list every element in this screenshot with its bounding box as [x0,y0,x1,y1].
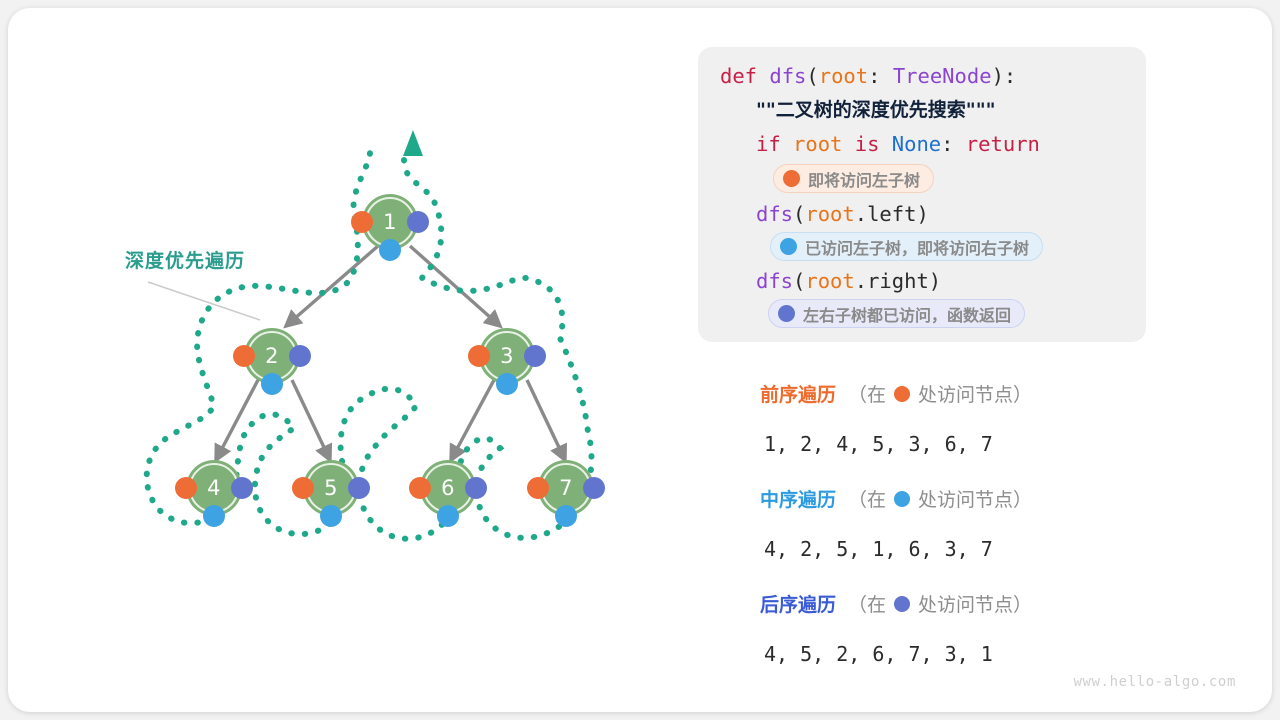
dfs-label: 深度优先遍历 [125,246,245,273]
legend-sequence-postorder: 4, 5, 2, 6, 7, 3, 1 [764,642,993,666]
blue-dot [437,505,459,527]
node-1[interactable]: 1 [362,194,418,250]
badge-pre: 即将访问左子树 [773,164,934,193]
code-token: None [892,132,941,156]
code-token: is [855,132,892,156]
blue-dot [894,491,910,507]
code-token: dfs [769,64,806,88]
edge-2-5 [292,380,330,460]
badge-post: 左右子树都已访问，函数返回 [768,299,1025,328]
legend-note: （在处访问节点） [848,485,1032,512]
legend-head-preorder: 前序遍历（在处访问节点） [760,380,1032,407]
legend-note-open: （在 [848,485,886,512]
page-background: 深度优先遍历 1234567 def dfs(root: TreeNode):"… [0,0,1280,720]
orange-dot [468,345,490,367]
orange-dot [175,477,197,499]
indigo-dot [894,596,910,612]
legend-sequence-preorder: 1, 2, 4, 5, 3, 6, 7 [764,432,993,456]
legend-note-close: 处访问节点） [918,380,1032,407]
code-token: root [819,64,868,88]
orange-dot [527,477,549,499]
code-token: def [720,64,769,88]
blue-dot [261,373,283,395]
code-token: ( [793,202,805,226]
code-token: return [966,132,1040,156]
tree-edges-and-path [8,8,698,712]
edge-1-2 [286,246,378,326]
code-token: root [793,132,855,156]
code-token: ""二叉树的深度优先搜索""" [756,99,996,121]
traversal-start-arrow-icon [403,130,423,156]
legend-sequence-inorder: 4, 2, 5, 1, 6, 3, 7 [764,537,993,561]
node-7[interactable]: 7 [538,460,594,516]
legend-note-close: 处访问节点） [918,485,1032,512]
code-token: : [868,64,893,88]
code-line-ifnone: if root is None: return [756,134,1040,155]
indigo-dot [583,477,605,499]
indigo-dot [407,211,429,233]
code-line-def: def dfs(root: TreeNode): [720,66,1016,87]
badge-in: 已访问左子树，即将访问右子树 [770,232,1043,261]
node-3[interactable]: 3 [479,328,535,384]
code-token: root [805,269,854,293]
legend-title: 中序遍历 [760,485,836,512]
node-2[interactable]: 2 [244,328,300,384]
code-token: ): [992,64,1017,88]
code-token: TreeNode [893,64,992,88]
code-token: : [941,132,966,156]
indigo-dot [289,345,311,367]
badge-label: 左右子树都已访问，函数返回 [803,302,1011,326]
blue-dot [203,505,225,527]
legend-head-postorder: 后序遍历（在处访问节点） [760,590,1032,617]
blue-dot [496,373,518,395]
figure-card: 深度优先遍历 1234567 def dfs(root: TreeNode):"… [8,8,1272,712]
blue-dot [555,505,577,527]
orange-dot [292,477,314,499]
edge-3-7 [527,380,565,460]
code-token: dfs [756,269,793,293]
legend-head-inorder: 中序遍历（在处访问节点） [760,485,1032,512]
legend-note-open: （在 [848,380,886,407]
node-6[interactable]: 6 [420,460,476,516]
blue-dot [320,505,342,527]
legend-note-open: （在 [848,590,886,617]
tree-diagram: 深度优先遍历 1234567 [8,8,698,712]
code-token: .left) [855,202,929,226]
watermark: www.hello-algo.com [1073,674,1236,690]
indigo-dot [524,345,546,367]
orange-dot [409,477,431,499]
edge-3-6 [451,380,494,460]
legend-title: 前序遍历 [760,380,836,407]
node-5[interactable]: 5 [303,460,359,516]
code-line-doc: ""二叉树的深度优先搜索""" [756,99,996,120]
code-token: ( [806,64,818,88]
badge-label: 已访问左子树，即将访问右子树 [805,235,1029,259]
legend-note: （在处访问节点） [848,590,1032,617]
legend-note-close: 处访问节点） [918,590,1032,617]
code-line-dfsright: dfs(root.right) [756,271,941,292]
code-token: root [805,202,854,226]
orange-dot [894,386,910,402]
orange-dot [783,170,800,187]
badge-label: 即将访问左子树 [808,167,920,191]
orange-dot [233,345,255,367]
code-token: ( [793,269,805,293]
indigo-dot [465,477,487,499]
blue-dot [379,239,401,261]
indigo-dot [778,305,795,322]
node-4[interactable]: 4 [186,460,242,516]
code-token: dfs [756,202,793,226]
code-line-dfsleft: dfs(root.left) [756,204,929,225]
code-token: if [756,132,793,156]
blue-dot [780,238,797,255]
code-token: .right) [855,269,941,293]
legend-note: （在处访问节点） [848,380,1032,407]
indigo-dot [348,477,370,499]
legend-title: 后序遍历 [760,590,836,617]
code-panel [698,47,1146,342]
orange-dot [351,211,373,233]
indigo-dot [231,477,253,499]
